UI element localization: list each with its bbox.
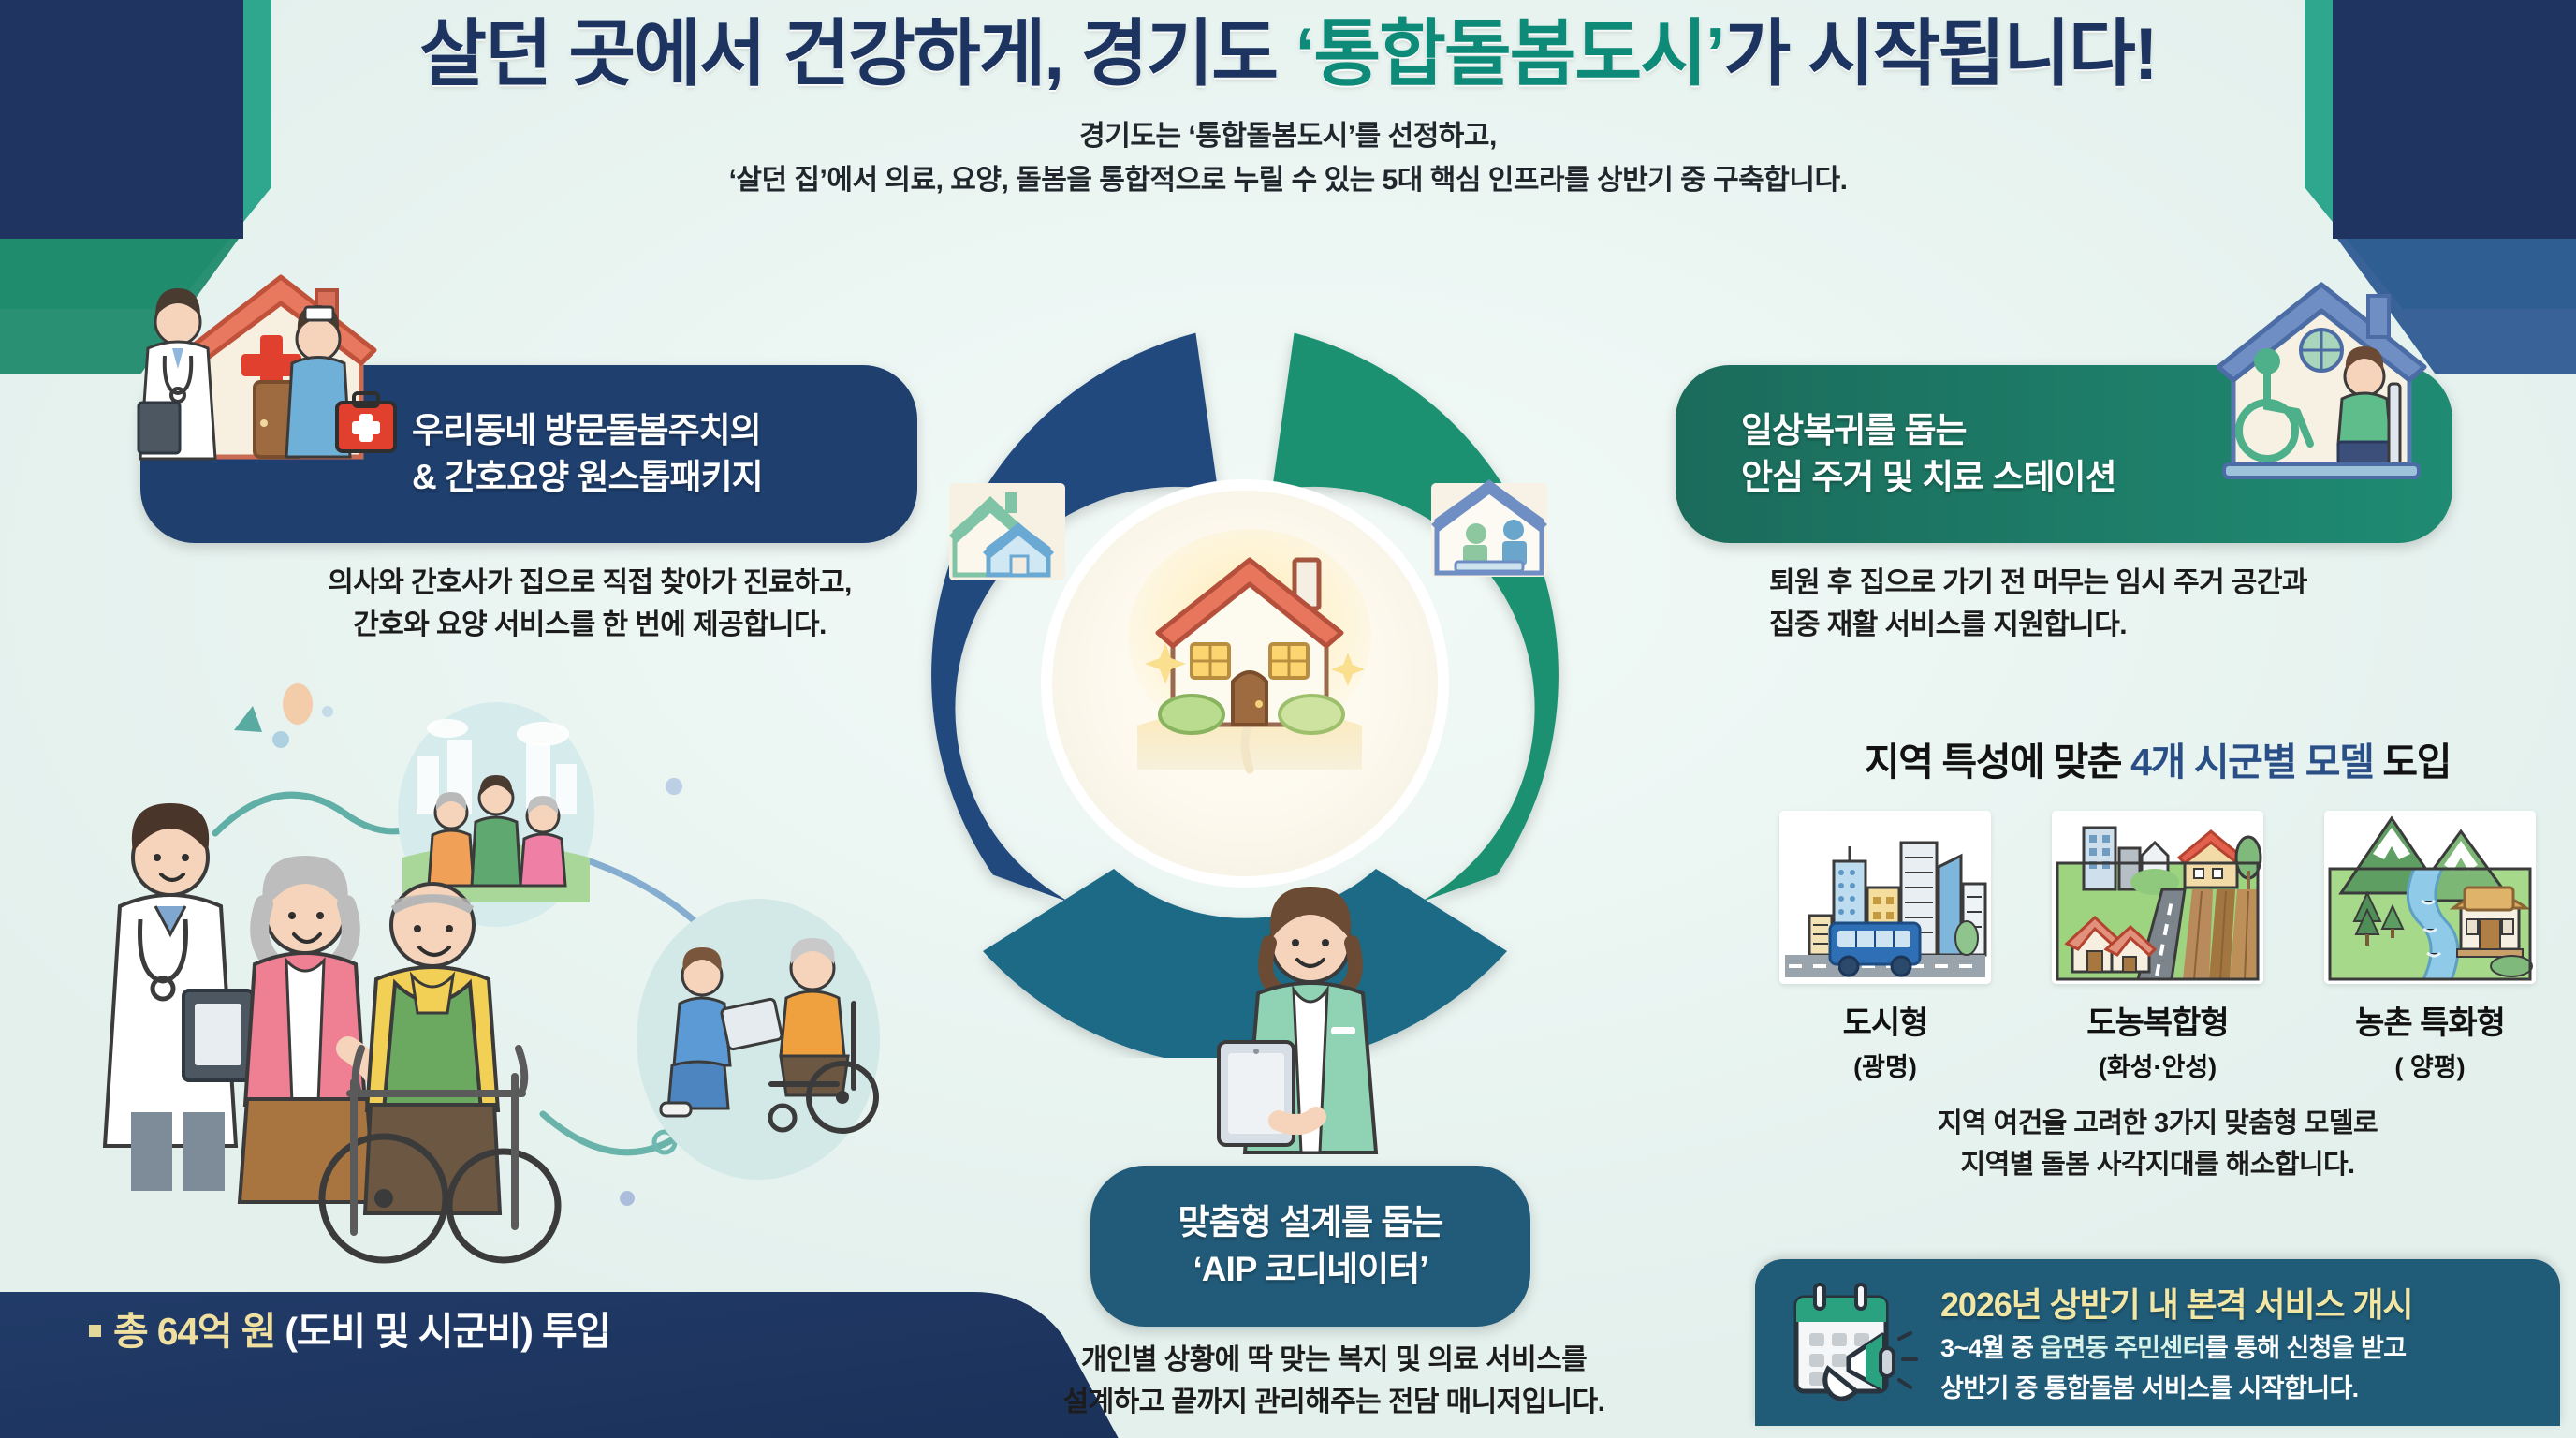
banner-line-1: 3~4월 중 읍면동 주민센터를 통해 신청을 받고 [1940, 1331, 2412, 1367]
regional-models-section: 지역 특성에 맞춘 4개 시군별 모델 도입 [1750, 730, 2565, 1185]
model-region: (광명) [1767, 1047, 2003, 1083]
wheelchair-rehab-house-icon [2181, 271, 2462, 552]
desc-line-1: 개인별 상황에 딱 맞는 복지 및 의료 서비스를 [945, 1339, 1722, 1381]
page-title: 살던 곳에서 건강하게, 경기도 ‘통합돌봄도시’가 시작됩니다! [0, 13, 2576, 95]
card-home-visit-doctor[interactable]: 우리동네 방문돌봄주치의 & 간호요양 원스톱패키지 [140, 365, 917, 543]
service-launch-banner[interactable]: 2026년 상반기 내 본격 서비스 개시 3~4월 중 읍면동 주민센터를 통… [1755, 1259, 2560, 1426]
left-illustration-scene [103, 674, 973, 1311]
card-label-line-2: 안심 주거 및 치료 스테이션 [1741, 454, 2116, 501]
card-label-line-2: ‘AIP 코디네이터’ [1090, 1246, 1530, 1293]
model-name: 농촌 특화형 [2312, 997, 2548, 1043]
card-home-visit-doctor-label: 우리동네 방문돌봄주치의 & 간호요양 원스톱패키지 [412, 407, 763, 501]
card-care-station-desc: 퇴원 후 집으로 가기 전 머무는 임시 주거 공간과 집중 재활 서비스를 지… [1769, 562, 2499, 646]
rural-mountain-river-icon [2324, 811, 2536, 984]
subtitle-line-2: ‘살던 집’에서 의료, 요양, 돌봄을 통합적으로 누릴 수 있는 5대 핵심… [0, 159, 2576, 203]
title-highlight: ‘통합돌봄도시’ [1295, 12, 1724, 95]
title-part-2: 가 시작됩니다! [1724, 12, 2157, 95]
header: 살던 곳에서 건강하게, 경기도 ‘통합돌봄도시’가 시작됩니다! 경기도는 ‘… [0, 13, 2576, 202]
card-label-line-1: 맞춤형 설계를 돕는 [1090, 1199, 1530, 1246]
banner-line-1-a: 3~4월 중 [1940, 1334, 2040, 1362]
infographic-canvas: 살던 곳에서 건강하게, 경기도 ‘통합돌봄도시’가 시작됩니다! 경기도는 ‘… [0, 0, 2576, 1438]
models-title-tail: 도입 [2373, 741, 2451, 784]
regional-models-title: 지역 특성에 맞춘 4개 시군별 모델 도입 [1750, 730, 2565, 786]
budget-amount: 총 64억 원 [113, 1310, 275, 1353]
desc-line-2: 설계하고 끝까지 관리해주는 전담 매니저입니다. [945, 1381, 1722, 1423]
desc-line-1: 지역 여건을 고려한 3가지 맞춤형 모델로 [1750, 1104, 2565, 1145]
regional-models-desc: 지역 여건을 고려한 3가지 맞춤형 모델로 지역별 돌봄 사각지대를 해소합니… [1750, 1104, 2565, 1185]
card-care-station-label: 일상복귀를 돕는 안심 주거 및 치료 스테이션 [1741, 407, 2116, 501]
banner-line-2: 상반기 중 통합돌봄 서비스를 시작합니다. [1940, 1372, 2412, 1407]
subtitle-line-1: 경기도는 ‘통합돌봄도시’를 선정하고, [0, 115, 2576, 159]
banner-title: 2026년 상반기 내 본격 서비스 개시 [1940, 1278, 2412, 1327]
regional-models-list: 도시형 (광명) [1750, 811, 2565, 1083]
bullet-icon [89, 1325, 101, 1337]
card-label-line-1: 일상복귀를 돕는 [1741, 407, 2116, 454]
banner-text-block: 2026년 상반기 내 본격 서비스 개시 3~4월 중 읍면동 주민센터를 통… [1940, 1278, 2412, 1407]
desc-line-2: 간호와 요양 서비스를 한 번에 제공합니다. [234, 604, 945, 646]
card-label-line-2: & 간호요양 원스톱패키지 [412, 454, 763, 501]
budget-statement: 총 64억 원 (도비 및 시군비) 투입 [89, 1299, 610, 1356]
card-label-line-1: 우리동네 방문돌봄주치의 [412, 407, 763, 454]
budget-rest: (도비 및 시군비) 투입 [275, 1310, 610, 1353]
card-home-visit-doctor-desc: 의사와 간호사가 집으로 직접 찾아가 진료하고, 간호와 요양 서비스를 한 … [234, 562, 945, 646]
model-item-urban[interactable]: 도시형 (광명) [1767, 811, 2003, 1083]
card-care-station[interactable]: 일상복귀를 돕는 안심 주거 및 치료 스테이션 [1676, 365, 2452, 543]
banner-line-1-highlight: 읍면동 주민센터 [2040, 1334, 2205, 1362]
model-region: (화성·안성) [2040, 1047, 2276, 1083]
coordinator-tablet-icon [1189, 885, 1432, 1184]
model-region: ( 양평) [2312, 1047, 2548, 1083]
title-part-1: 살던 곳에서 건강하게, 경기도 [419, 12, 1295, 95]
models-title-normal: 지역 특성에 맞춘 [1865, 741, 2130, 784]
card-aip-coordinator-label: 맞춤형 설계를 돕는 ‘AIP 코디네이터’ [1090, 1199, 1530, 1293]
calendar-megaphone-icon [1787, 1281, 1927, 1404]
desc-line-1: 의사와 간호사가 집으로 직접 찾아가 진료하고, [234, 562, 945, 604]
city-skyline-icon [1779, 811, 1991, 984]
model-item-urban-rural[interactable]: 도농복합형 (화성·안성) [2040, 811, 2276, 1083]
urban-rural-field-icon [2052, 811, 2263, 984]
page-subtitle: 경기도는 ‘통합돌봄도시’를 선정하고, ‘살던 집’에서 의료, 요양, 돌봄… [0, 115, 2576, 202]
model-name: 도농복합형 [2040, 997, 2276, 1043]
card-aip-coordinator[interactable]: 맞춤형 설계를 돕는 ‘AIP 코디네이터’ [1090, 1166, 1530, 1327]
banner-line-1-b: 를 통해 신청을 받고 [2205, 1334, 2407, 1362]
desc-line-2: 집중 재활 서비스를 지원합니다. [1769, 604, 2499, 646]
doctor-nurse-home-visit-icon [124, 262, 404, 543]
desc-line-1: 퇴원 후 집으로 가기 전 머무는 임시 주거 공간과 [1769, 562, 2499, 604]
ring-caregiver-house-icon [1427, 476, 1551, 584]
card-aip-coordinator-desc: 개인별 상황에 딱 맞는 복지 및 의료 서비스를 설계하고 끝까지 관리해주는… [945, 1339, 1722, 1423]
model-item-rural[interactable]: 농촌 특화형 ( 양평) [2312, 811, 2548, 1083]
desc-line-2: 지역별 돌봄 사각지대를 해소합니다. [1750, 1145, 2565, 1186]
models-title-accent: 4개 시군별 모델 [2130, 741, 2373, 784]
center-home-icon [1119, 524, 1381, 777]
model-name: 도시형 [1767, 997, 2003, 1043]
ring-small-house-icon [945, 477, 1069, 586]
